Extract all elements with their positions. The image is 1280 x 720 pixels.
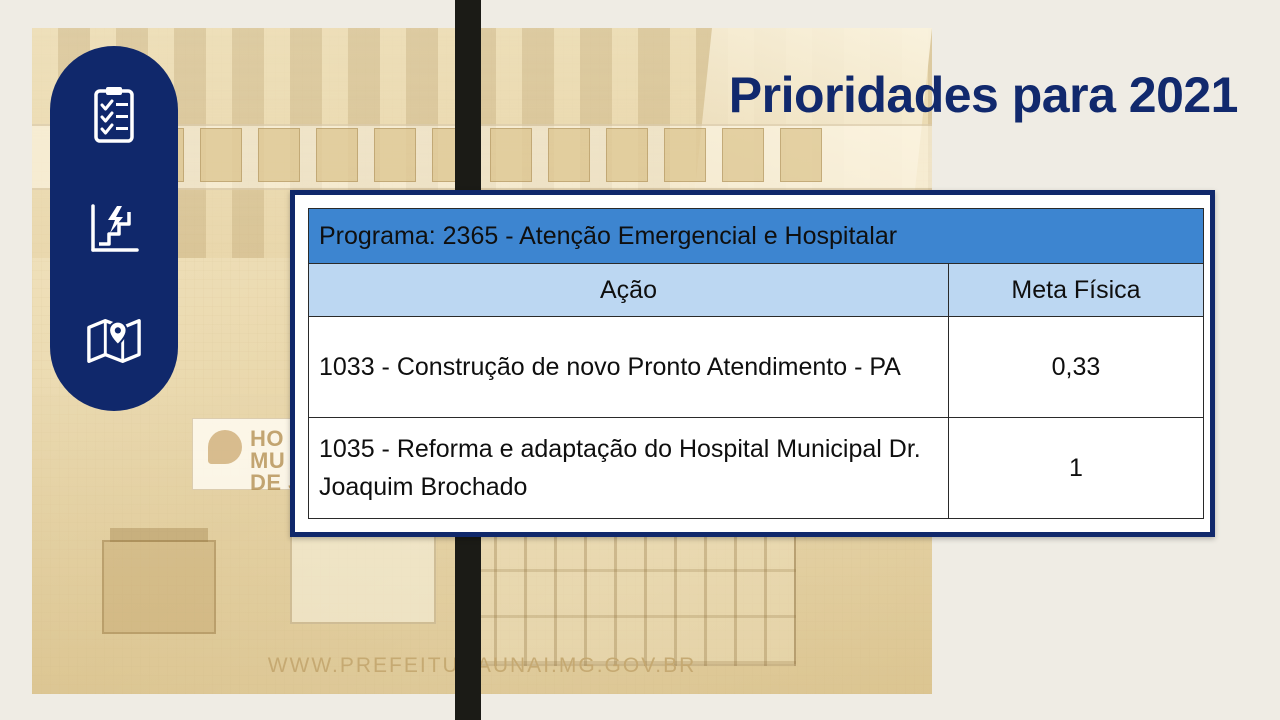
photo-watermark: WWW.PREFEITURAUNAI.MG.GOV.BR <box>32 654 932 678</box>
slide: HO MU DE J... WWW.PREFEITURAUNAI.MG.GOV.… <box>0 0 1280 720</box>
photo-hospital-logo <box>208 430 242 464</box>
page-title: Prioridades para 2021 <box>500 66 1260 124</box>
program-table: Programa: 2365 - Atenção Emergencial e H… <box>308 208 1204 519</box>
photo-counter <box>102 540 216 634</box>
checklist-icon[interactable] <box>86 88 142 144</box>
table-header-row: Ação Meta Física <box>309 264 1204 317</box>
map-pin-icon[interactable] <box>86 313 142 369</box>
cell-meta: 1 <box>949 418 1204 519</box>
table-row-program: Programa: 2365 - Atenção Emergencial e H… <box>309 209 1204 264</box>
icon-rail <box>50 46 178 411</box>
program-label: Programa: 2365 - Atenção Emergencial e H… <box>309 209 1204 264</box>
column-header-meta: Meta Física <box>949 264 1204 317</box>
cell-acao: 1033 - Construção de novo Pronto Atendim… <box>309 317 949 418</box>
cell-meta: 0,33 <box>949 317 1204 418</box>
program-table-card: Programa: 2365 - Atenção Emergencial e H… <box>290 190 1215 537</box>
table-row: 1035 - Reforma e adaptação do Hospital M… <box>309 418 1204 519</box>
cell-acao: 1035 - Reforma e adaptação do Hospital M… <box>309 418 949 519</box>
column-header-acao: Ação <box>309 264 949 317</box>
growth-chart-icon[interactable] <box>86 200 142 256</box>
photo-windows <box>142 128 822 182</box>
table-row: 1033 - Construção de novo Pronto Atendim… <box>309 317 1204 418</box>
